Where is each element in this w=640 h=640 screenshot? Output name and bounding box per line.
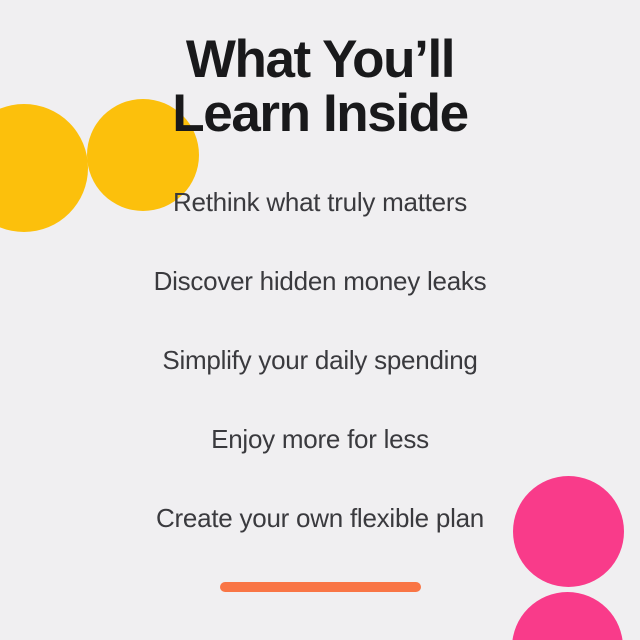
list-item: Simplify your daily spending [0, 330, 640, 409]
list-item: Discover hidden money leaks [0, 251, 640, 330]
accent-bar [220, 582, 421, 592]
page-title-line-1: What You’ll [0, 33, 640, 87]
benefit-list: Rethink what truly matters Discover hidd… [0, 172, 640, 567]
pink-circle-lower [512, 592, 623, 640]
list-item: Enjoy more for less [0, 409, 640, 488]
list-item: Rethink what truly matters [0, 172, 640, 251]
slide-canvas: What You’ll Learn Inside Rethink what tr… [0, 0, 640, 640]
list-item: Create your own flexible plan [0, 488, 640, 567]
page-title-line-2: Learn Inside [0, 87, 640, 141]
page-title: What You’ll Learn Inside [0, 33, 640, 141]
